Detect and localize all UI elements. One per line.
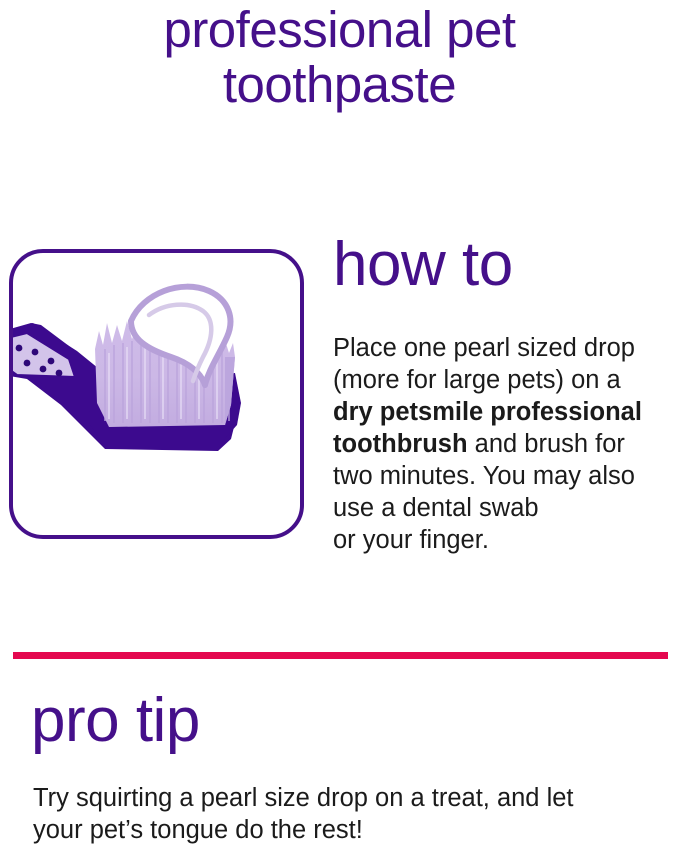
howto-line-6: use a dental swab [333, 492, 673, 524]
protip-heading: pro tip [31, 688, 200, 754]
page-title-line-2: toothpaste [0, 57, 679, 112]
protip-line-1: Try squirting a pearl size drop on a tre… [33, 782, 663, 814]
illustration-frame [9, 249, 304, 539]
toothbrush-with-paste-icon [13, 253, 300, 535]
protip-line-2: your pet’s tongue do the rest! [33, 814, 663, 846]
protip-body: Try squirting a pearl size drop on a tre… [33, 782, 663, 846]
pet-toothpaste-instruction-card: { "colors": { "purple": "#45108A", "crim… [0, 0, 679, 848]
howto-line-3-bold: dry petsmile professional [333, 398, 642, 426]
howto-line-4-rest: and brush for [468, 430, 625, 458]
howto-body: Place one pearl sized drop (more for lar… [333, 332, 673, 556]
howto-line-7: or your finger. [333, 524, 673, 556]
howto-line-3: dry petsmile professional [333, 396, 673, 428]
howto-line-4-bold: toothbrush [333, 430, 468, 458]
howto-line-5: two minutes. You may also [333, 460, 673, 492]
section-divider [13, 652, 668, 659]
howto-line-2: (more for large pets) on a [333, 364, 673, 396]
page-title: professional pet toothpaste [0, 2, 679, 112]
howto-line-4: toothbrush and brush for [333, 428, 673, 460]
howto-line-1: Place one pearl sized drop [333, 332, 673, 364]
howto-heading: how to [333, 232, 513, 298]
page-title-line-1: professional pet [0, 2, 679, 57]
